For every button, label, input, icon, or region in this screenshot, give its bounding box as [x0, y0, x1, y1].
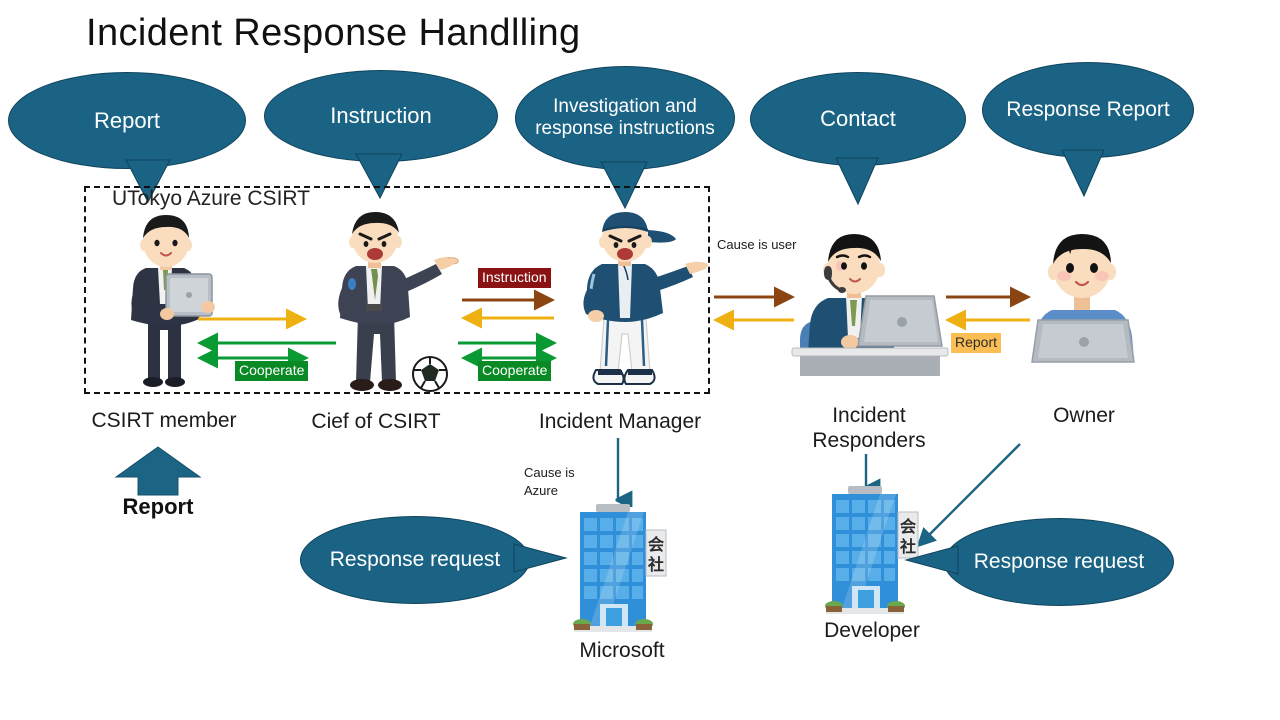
caption-microsoft: Microsoft	[540, 638, 704, 663]
flow-label-instruction: Instruction	[478, 268, 551, 288]
owner-illustration	[1026, 224, 1142, 374]
connector-manager-to-microsoft	[606, 436, 636, 512]
bubble-response-request-left: Response request	[300, 516, 530, 604]
diagram-canvas: Incident Response Handlling Report Instr…	[0, 0, 1280, 720]
building-sign-kanji-bottom: 社	[647, 555, 664, 574]
bubble-response-request-right: Response request	[944, 518, 1174, 606]
caption-owner: Owner	[1014, 403, 1154, 428]
bubble-investigation-label: Investigation and response instructions	[515, 66, 735, 170]
bubble-contact-tail	[836, 154, 896, 206]
page-title: Incident Response Handlling	[86, 12, 581, 55]
building-sign-kanji-top: 会	[648, 535, 664, 554]
bubble-investigation: Investigation and response instructions	[515, 66, 735, 170]
bubble-report: Report	[8, 72, 246, 169]
report-block-arrow	[112, 447, 204, 495]
report-block-arrow-label: Report	[114, 494, 202, 520]
caption-csirt-member: CSIRT member	[68, 408, 260, 433]
bubble-instruction: Instruction	[264, 70, 498, 162]
note-cause-is-user: Cause is user	[717, 236, 796, 254]
caption-incident-manager: Incident Manager	[518, 409, 722, 434]
flow-arrows-manager-to-responders	[712, 288, 802, 330]
microsoft-building-illustration: 会 社	[566, 504, 678, 636]
bubble-response-request-left-label: Response request	[300, 516, 530, 604]
bubble-contact: Contact	[750, 72, 966, 166]
bubble-response-request-left-tail	[514, 542, 574, 582]
flow-label-cooperate-left: Cooperate	[235, 361, 308, 381]
bubble-report-label: Report	[8, 72, 246, 169]
bubble-instruction-label: Instruction	[264, 70, 498, 162]
flow-arrows-responders-to-owner	[944, 288, 1036, 330]
csirt-boundary-label: UTokyo Azure CSIRT	[112, 187, 310, 211]
flow-label-cooperate-right: Cooperate	[478, 361, 551, 381]
incident-responders-illustration	[792, 226, 948, 378]
svg-text:会: 会	[900, 517, 916, 536]
note-cause-is-azure: Cause is Azure	[524, 464, 586, 499]
flow-label-report: Report	[951, 333, 1001, 353]
bubble-response-report-label: Response Report	[982, 62, 1194, 158]
incident-manager-illustration	[570, 214, 710, 396]
bubble-response-request-right-tail	[900, 544, 960, 584]
caption-chief-of-csirt: Cief of CSIRT	[288, 409, 464, 434]
bubble-contact-label: Contact	[750, 72, 966, 166]
bubble-response-report: Response Report	[982, 62, 1194, 158]
bubble-response-request-right-label: Response request	[944, 518, 1174, 606]
bubble-response-report-tail	[1062, 146, 1122, 198]
caption-developer: Developer	[790, 618, 954, 643]
